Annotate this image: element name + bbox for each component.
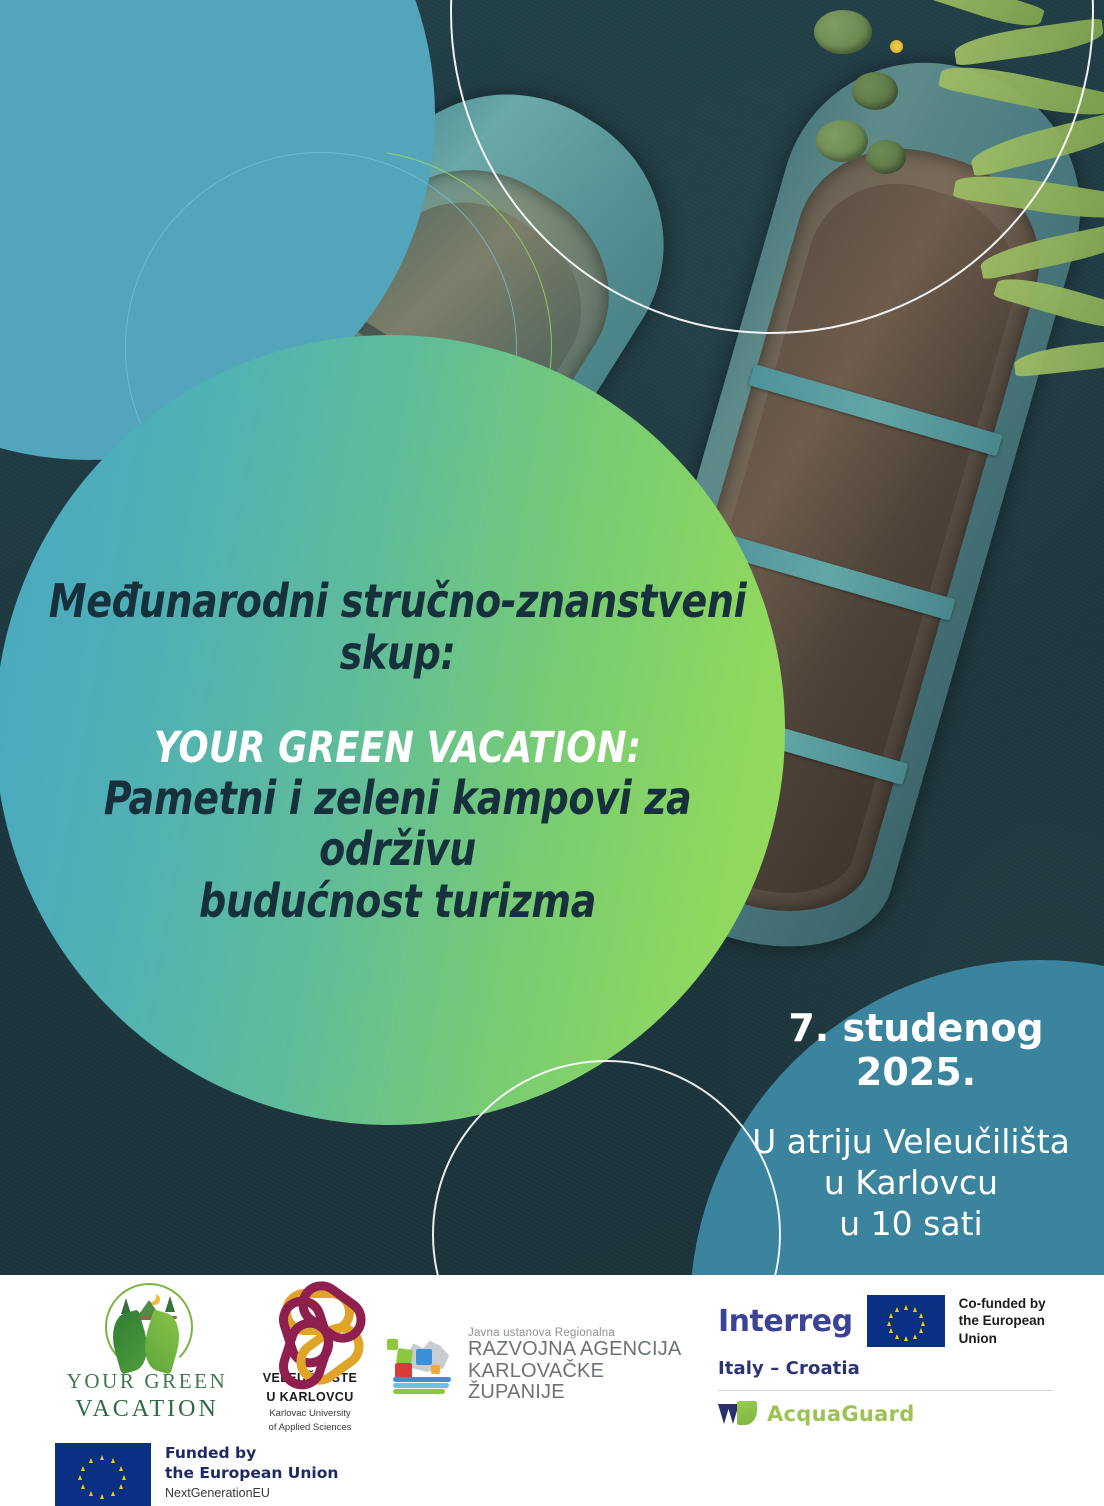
ra-label-line-3: KARLOVAČKE ŽUPANIJE <box>468 1361 705 1404</box>
acquaguard-icon <box>718 1401 758 1427</box>
ra-label-line-2: RAZVOJNA AGENCIJA <box>468 1339 705 1360</box>
funded-line-2: the European Union <box>165 1463 338 1483</box>
wave-line-lightblue <box>393 1383 449 1388</box>
headline-subtitle-3: budućnost turizma <box>32 876 763 928</box>
headline-block: Međunarodni stručno-znanstveni skup: YOU… <box>32 576 763 928</box>
logo-razvojna-agencija: Javna ustanova Regionalna RAZVOJNA AGENC… <box>385 1327 705 1403</box>
event-venue-line-2: u Karlovcu <box>730 1163 1092 1204</box>
leaf-spray-icon <box>993 270 1104 338</box>
vuk-label-line-2: U KARLOVCU <box>240 1390 380 1405</box>
leaf-spray-icon <box>1013 337 1104 377</box>
wave-line-green <box>393 1389 445 1394</box>
ygv-label-line-2: VACATION <box>52 1396 242 1423</box>
footer-logo-bar: YOUR GREEN VACATION VELEUČILIŠTE U KARLO… <box>0 1275 1104 1506</box>
acquaguard-leaf-icon <box>737 1401 757 1425</box>
color-square-green <box>387 1339 398 1350</box>
logo-interreg: Interreg Co-funded by <box>718 1295 1068 1427</box>
headline-spacer <box>32 680 763 724</box>
logo-veleuciliste-u-karlovcu: VELEUČILIŠTE U KARLOVCU Karlovac Univers… <box>240 1287 380 1434</box>
event-venue-line-1: U atriju Veleučilišta <box>730 1122 1092 1163</box>
razvojna-agencija-text: Javna ustanova Regionalna RAZVOJNA AGENC… <box>468 1327 705 1403</box>
headline-subtitle-1: Pametni i zeleni kampovi za <box>32 773 763 825</box>
headline-title-white: YOUR GREEN VACATION: <box>32 724 763 773</box>
event-date-block: 7. studenog 2025. <box>742 1006 1090 1095</box>
vuk-label-line-4: of Applied Sciences <box>240 1422 380 1434</box>
interreg-programme: Italy – Croatia <box>718 1358 1068 1379</box>
interreg-top-row: Interreg Co-funded by <box>718 1295 1068 1347</box>
color-square-orange <box>431 1365 440 1374</box>
logo-acquaguard: AcquaGuard <box>718 1401 1068 1427</box>
funded-line-1: Funded by <box>165 1443 338 1463</box>
funded-by-text: Funded by the European Union NextGenerat… <box>165 1443 338 1500</box>
tree-icon <box>165 1296 175 1312</box>
interreg-brand: Interreg <box>718 1304 853 1339</box>
color-square-blue <box>416 1349 432 1365</box>
poster-root: Međunarodni stručno-znanstveni skup: YOU… <box>0 0 1104 1506</box>
ygv-label-line-1: YOUR GREEN <box>52 1369 242 1394</box>
event-date-line-2: 2025. <box>742 1050 1090 1094</box>
acquaguard-label: AcquaGuard <box>767 1402 915 1426</box>
footer-divider <box>718 1390 1053 1391</box>
cofunded-line-1: Co-funded by <box>959 1295 1068 1312</box>
headline-line-2: skup: <box>32 628 763 680</box>
razvojna-agencija-icon <box>385 1335 459 1395</box>
headline-subtitle-2: održivu <box>32 824 763 876</box>
badge-funded-by-eu: Funded by the European Union NextGenerat… <box>55 1443 338 1506</box>
event-venue-line-3: u 10 sati <box>730 1204 1092 1245</box>
cofunded-line-2: the European Union <box>959 1312 1068 1347</box>
your-green-vacation-icon <box>93 1287 201 1365</box>
eu-flag-icon <box>55 1443 151 1506</box>
funded-line-3: NextGenerationEU <box>165 1486 338 1500</box>
eu-cofunded-text: Co-funded by the European Union <box>959 1295 1068 1347</box>
vuk-label-line-3: Karlovac University <box>240 1408 380 1420</box>
logo-your-green-vacation: YOUR GREEN VACATION <box>52 1287 242 1412</box>
headline-line-1: Međunarodni stručno-znanstveni <box>32 576 763 628</box>
event-venue-block: U atriju Veleučilišta u Karlovcu u 10 sa… <box>730 1122 1092 1245</box>
event-date-line-1: 7. studenog <box>742 1006 1090 1050</box>
eu-flag-icon <box>867 1295 945 1347</box>
wave-line-blue <box>393 1377 451 1382</box>
interlocking-loops-icon <box>268 1287 352 1367</box>
